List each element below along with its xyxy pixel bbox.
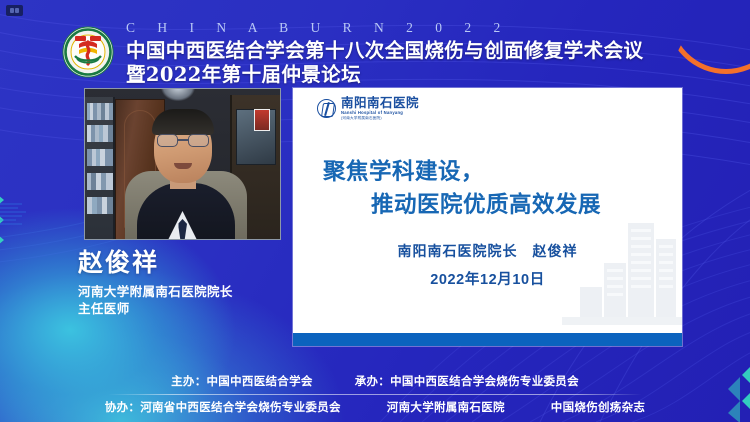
video-scene xyxy=(85,89,280,239)
speaker-caption: 赵俊祥 河南大学附属南石医院院长 主任医师 xyxy=(78,248,308,318)
hospital-name-en: Nanshi Hospital of Nanyang xyxy=(341,111,419,115)
books-row xyxy=(87,125,113,142)
speaker-role-line-1: 河南大学附属南石医院院长 xyxy=(78,284,308,301)
footer-coorganizer-3: 中国烧伤创疡杂志 xyxy=(551,399,645,415)
footer-organizer-undertaker: 承办：中国中西医结合学会烧伤专业委员会 xyxy=(355,373,579,389)
conference-title-line-2: 暨2022年第十届仲景论坛 xyxy=(126,63,736,87)
footer-divider xyxy=(108,394,642,395)
books-row xyxy=(87,149,113,166)
header-text-group: C H I N A B U R N 2 0 2 2 中国中西医结合学会第十八次全… xyxy=(126,20,736,87)
books-row xyxy=(87,197,113,214)
conference-title-line-1: 中国中西医结合学会第十八次全国烧伤与创面修复学术会议 xyxy=(126,39,736,63)
footer-coorganizers-row: 协办：河南省中西医结合学会烧伤专业委员会 河南大学附属南石医院 中国烧伤创疡杂志 xyxy=(0,394,750,420)
conference-footer: 主办：中国中西医结合学会 承办：中国中西医结合学会烧伤专业委员会 协办：河南省中… xyxy=(0,368,750,422)
slide-bottom-bar xyxy=(293,333,682,346)
footer-coorganizer-1: 协办：河南省中西医结合学会烧伤专业委员会 xyxy=(105,399,341,415)
china-burn-conference-emblem-icon xyxy=(62,26,114,78)
speaker-role-line-2: 主任医师 xyxy=(78,301,308,318)
slide-date: 2022年12月10日 xyxy=(293,269,682,291)
wall-picture xyxy=(254,109,270,131)
speaker-video-feed[interactable] xyxy=(84,88,281,240)
conference-eyebrow-title: C H I N A B U R N 2 0 2 2 xyxy=(126,20,736,36)
hospital-logo-mark-icon xyxy=(317,99,336,118)
footer-coorganizer-2: 河南大学附属南石医院 xyxy=(387,399,505,415)
hospital-name-cn: 南阳南石医院 xyxy=(341,97,419,110)
books-row xyxy=(87,173,113,190)
slide-presenter: 南阳南石医院院长 赵俊祥 xyxy=(293,240,682,262)
slide-title-line-1: 聚焦学科建设， xyxy=(323,158,659,186)
ceiling-lamp xyxy=(161,88,195,101)
presentation-slide[interactable]: 南阳南石医院 Nanshi Hospital of Nanyang (河南大学附… xyxy=(293,88,682,346)
footer-organizer-host: 主办：中国中西医结合学会 xyxy=(171,373,313,389)
footer-organizers-row: 主办：中国中西医结合学会 承办：中国中西医结合学会烧伤专业委员会 xyxy=(0,368,750,394)
speaker-name: 赵俊祥 xyxy=(78,248,308,278)
bookshelf-left xyxy=(85,97,115,240)
slide-title-line-2: 推动医院优质高效发展 xyxy=(371,191,659,219)
hospital-logo: 南阳南石医院 Nanshi Hospital of Nanyang (河南大学附… xyxy=(317,97,419,120)
eyeglasses-icon xyxy=(157,134,209,147)
hospital-logo-words: 南阳南石医院 Nanshi Hospital of Nanyang (河南大学附… xyxy=(341,97,419,120)
speaker-hair xyxy=(152,109,214,135)
slide-title: 聚焦学科建设， 推动医院优质高效发展 xyxy=(323,158,659,219)
chevron-decoration-left xyxy=(0,188,64,255)
slide-meta: 南阳南石医院院长 赵俊祥 2022年12月10日 xyxy=(293,240,682,291)
hospital-name-sub: (河南大学附属南石医院) xyxy=(341,117,419,121)
conference-header: C H I N A B U R N 2 0 2 2 中国中西医结合学会第十八次全… xyxy=(0,8,750,88)
books-row xyxy=(87,103,113,120)
presentation-stage: C H I N A B U R N 2 0 2 2 中国中西医结合学会第十八次全… xyxy=(0,0,750,422)
